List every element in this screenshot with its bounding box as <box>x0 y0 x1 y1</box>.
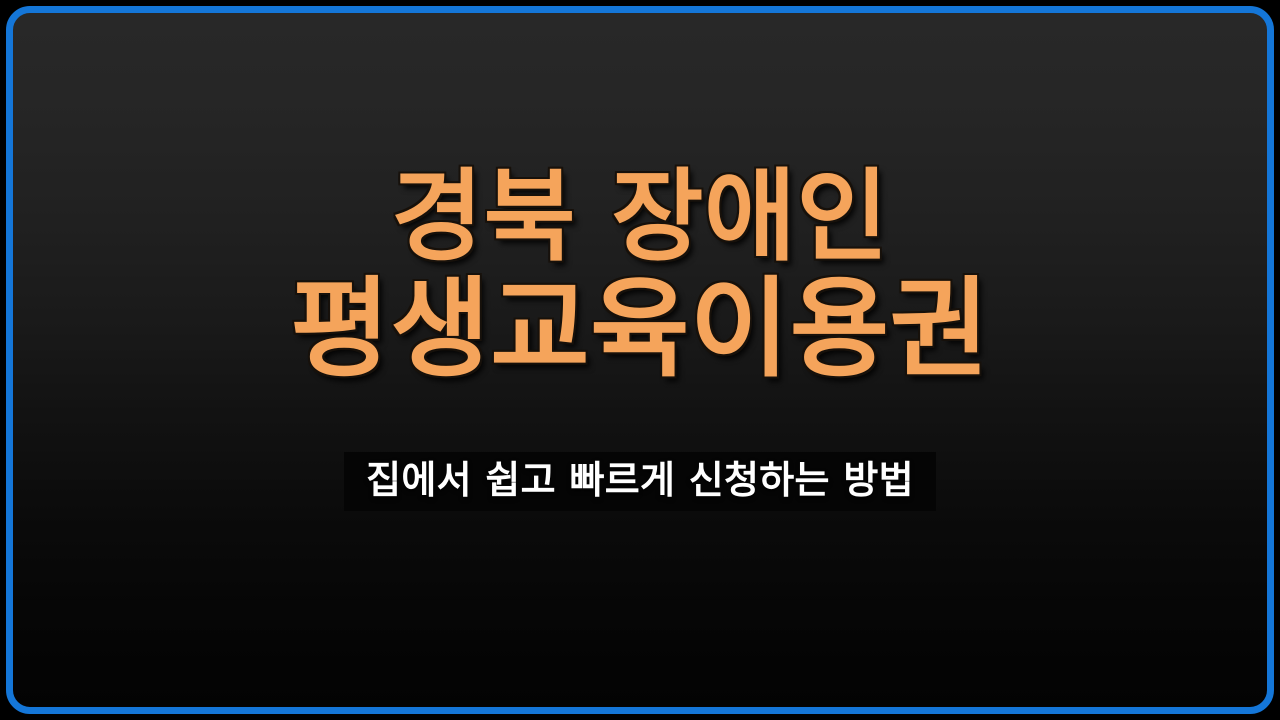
thumbnail-canvas: 경북 장애인 평생교육이용권 집에서 쉽고 빠르게 신청하는 방법 <box>0 0 1280 720</box>
subtitle-text: 집에서 쉽고 빠르게 신청하는 방법 <box>366 458 914 502</box>
headline-block: 경북 장애인 평생교육이용권 <box>13 163 1267 388</box>
content-stack: 경북 장애인 평생교육이용권 집에서 쉽고 빠르게 신청하는 방법 <box>13 13 1267 707</box>
headline-line-2: 평생교육이용권 <box>13 272 1267 388</box>
headline-line-1: 경북 장애인 <box>13 163 1267 270</box>
subtitle-block: 집에서 쉽고 빠르게 신청하는 방법 <box>344 452 936 512</box>
blue-rounded-frame: 경북 장애인 평생교육이용권 집에서 쉽고 빠르게 신청하는 방법 <box>6 6 1274 714</box>
